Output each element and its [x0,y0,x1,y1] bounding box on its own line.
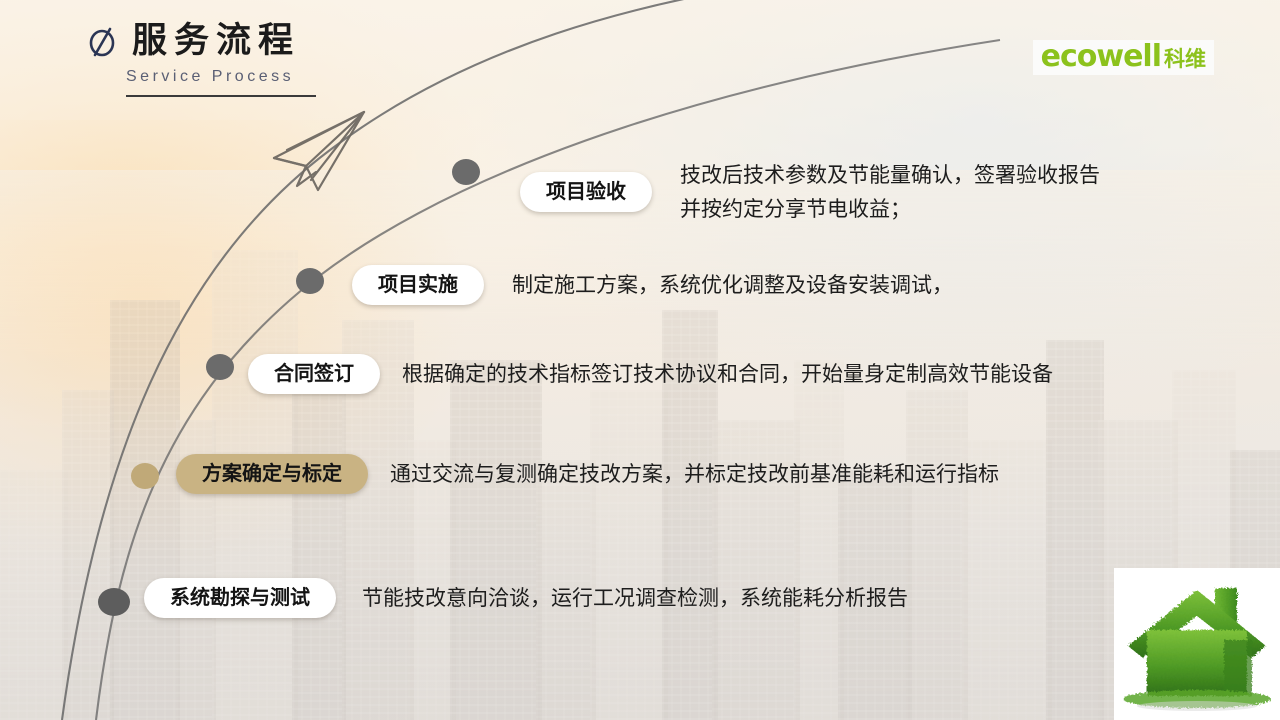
milestone-dot-1 [98,588,130,616]
milestone-dot-3 [206,354,234,380]
slide-canvas: 服务流程 Service Process ecowell 科维 项目验收 技改后… [0,0,1280,720]
step-description-1: 节能技改意向洽谈，运行工况调查检测，系统能耗分析报告 [362,581,908,615]
process-step-5[interactable]: 项目验收 技改后技术参数及节能量确认，签署验收报告 并按约定分享节电收益； [520,158,1100,226]
page-subtitle: Service Process [126,68,316,86]
process-step-3[interactable]: 合同签订 根据确定的技术指标签订技术协议和合同，开始量身定制高效节能设备 [248,354,1053,394]
step-description-4: 制定施工方案，系统优化调整及设备安装调试， [512,268,953,302]
eco-house-image [1114,568,1280,720]
milestone-dot-5 [452,159,480,185]
process-step-4[interactable]: 项目实施 制定施工方案，系统优化调整及设备安装调试， [352,265,953,305]
step-desc-line-1: 根据确定的技术指标签订技术协议和合同，开始量身定制高效节能设备 [402,357,1053,391]
step-desc-line-1: 节能技改意向洽谈，运行工况调查检测，系统能耗分析报告 [362,581,908,615]
slide-header: 服务流程 Service Process [88,24,316,97]
brand-name-en: ecowell [1041,42,1161,72]
header-divider [126,95,316,97]
page-title: 服务流程 [132,24,300,59]
milestone-dot-4 [296,268,324,294]
step-label-2[interactable]: 方案确定与标定 [176,454,368,494]
step-desc-line-1: 技改后技术参数及节能量确认，签署验收报告 [680,158,1100,192]
step-description-5: 技改后技术参数及节能量确认，签署验收报告 并按约定分享节电收益； [680,158,1100,226]
step-label-1[interactable]: 系统勘探与测试 [144,578,336,618]
step-description-3: 根据确定的技术指标签订技术协议和合同，开始量身定制高效节能设备 [402,357,1053,391]
brand-logo: ecowell 科维 [1033,40,1214,75]
process-step-2[interactable]: 方案确定与标定 通过交流与复测确定技改方案，并标定技改前基准能耗和运行指标 [176,454,999,494]
step-desc-line-2: 并按约定分享节电收益； [680,192,1100,226]
step-label-4[interactable]: 项目实施 [352,265,484,305]
paper-plane-icon [274,112,364,190]
step-label-3[interactable]: 合同签订 [248,354,380,394]
step-desc-line-1: 通过交流与复测确定技改方案，并标定技改前基准能耗和运行指标 [390,457,999,491]
step-desc-line-1: 制定施工方案，系统优化调整及设备安装调试， [512,268,953,302]
step-description-2: 通过交流与复测确定技改方案，并标定技改前基准能耗和运行指标 [390,457,999,491]
process-step-1[interactable]: 系统勘探与测试 节能技改意向洽谈，运行工况调查检测，系统能耗分析报告 [144,578,908,618]
milestone-dot-2 [131,463,159,489]
step-label-5[interactable]: 项目验收 [520,172,652,212]
brand-name-cn: 科维 [1164,49,1206,70]
slashed-circle-icon [88,25,118,59]
